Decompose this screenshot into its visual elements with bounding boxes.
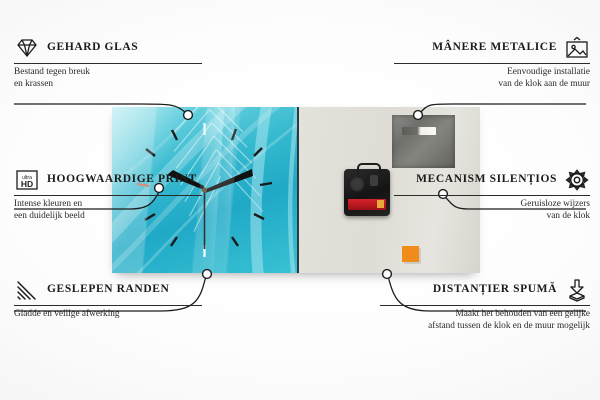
hanger-slot — [402, 127, 436, 135]
feature-description: Eenvoudige installatie van de klok aan d… — [394, 67, 590, 90]
feature-description: Maakt het behouden van een gelijke afsta… — [380, 309, 590, 332]
divider — [380, 305, 590, 306]
clock-center-pin — [202, 187, 207, 192]
gear-icon — [564, 168, 590, 192]
battery — [348, 199, 386, 210]
infographic-canvas: GEHARD GLAS Bestand tegen breuk en krass… — [0, 0, 600, 400]
mechanism-dial — [349, 176, 365, 192]
divider — [14, 195, 202, 196]
minute-hand — [204, 169, 253, 193]
mechanism-knob — [370, 175, 378, 186]
feature-title: GESLEPEN RANDEN — [47, 283, 169, 297]
feature-description: Intense kleuren en een duidelijk beeld — [14, 199, 202, 222]
feature-description: Geruisloze wijzers van de klok — [394, 199, 590, 222]
diamond-icon — [14, 36, 40, 60]
bevelled-edges-icon — [14, 278, 40, 302]
divider — [14, 63, 202, 64]
feature-distantier-spuma: DISTANȚIER SPUMĂ Maakt het behouden van … — [380, 278, 590, 332]
feature-title: HOOGWAARDIGE PRINT — [47, 173, 197, 187]
divider — [14, 305, 202, 306]
ultra-hd-icon: ultra HD — [14, 168, 40, 192]
feature-description: Bestand tegen breuk en krassen — [14, 67, 202, 90]
feature-title: GEHARD GLAS — [47, 41, 138, 55]
feature-title: DISTANȚIER SPUMĂ — [433, 283, 557, 297]
feature-geslepen-randen: GESLEPEN RANDEN Gladde en veilige afwerk… — [14, 278, 202, 321]
picture-frame-icon — [564, 36, 590, 60]
feature-manere-metalice: MÂNERE METALICE Eenvoudige installatie v… — [394, 36, 590, 90]
feature-description: Gladde en veilige afwerking — [14, 309, 202, 321]
foam-spacer — [402, 246, 419, 262]
feature-title: MECANISM SILENȚIOS — [416, 173, 557, 187]
battery-terminal — [377, 200, 384, 208]
feature-gehard-glas: GEHARD GLAS Bestand tegen breuk en krass… — [14, 36, 202, 90]
feature-title: MÂNERE METALICE — [432, 41, 557, 55]
divider — [394, 195, 590, 196]
divider — [394, 63, 590, 64]
down-arrow-stack-icon — [564, 278, 590, 302]
svg-text:HD: HD — [21, 179, 33, 189]
feature-mecanism-silentios: MECANISM SILENȚIOS Geruisloze wijzers va… — [394, 168, 590, 222]
clock-mechanism — [344, 169, 390, 216]
feature-hoogwaardige-print: ultra HD HOOGWAARDIGE PRINT Intense kleu… — [14, 168, 202, 222]
metal-hanger-plate — [392, 115, 455, 168]
mechanism-hanger-icon — [357, 163, 381, 174]
